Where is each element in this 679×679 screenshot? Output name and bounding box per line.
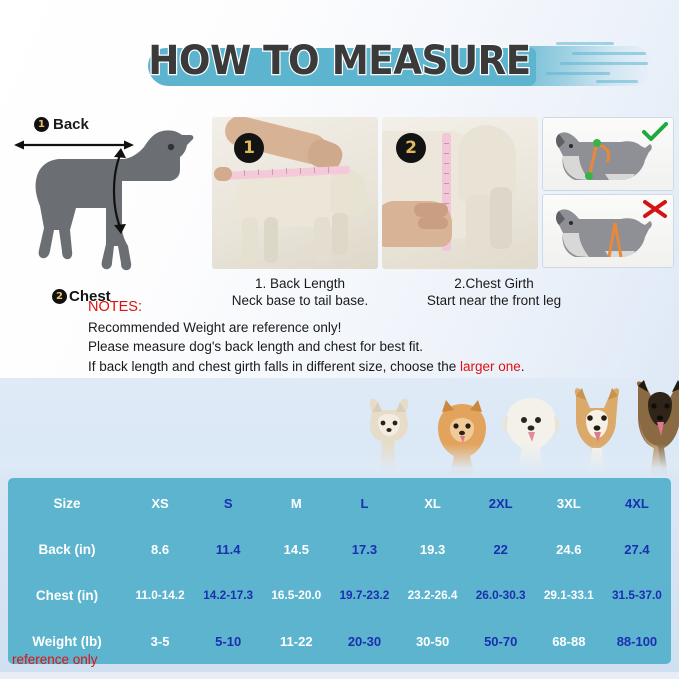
cell-weight-3xl: 68-88: [535, 634, 603, 649]
cell-chest-xs: 11.0-14.2: [126, 588, 194, 602]
cell-back-2xl: 22: [467, 542, 535, 557]
cell-back-xl: 19.3: [399, 542, 467, 557]
bottom-edge: [0, 672, 679, 679]
cell-size-3xl: 3XL: [535, 496, 603, 511]
cell-chest-s: 14.2-17.3: [194, 588, 262, 602]
size-table: Size XS S M L XL 2XL 3XL 4XL Back (in) 8…: [8, 478, 671, 664]
table-row-size: Size XS S M L XL 2XL 3XL 4XL: [8, 482, 671, 524]
cell-back-4xl: 27.4: [603, 542, 671, 557]
notes-line-3-post: .: [521, 359, 525, 374]
step-badge-2: 2: [396, 133, 426, 163]
row-label-size: Size: [8, 496, 126, 511]
caption-back-line1: 1. Back Length: [210, 275, 390, 292]
table-footnote: reference only: [12, 652, 98, 667]
cell-size-xs: XS: [126, 496, 194, 511]
notes-line-3: If back length and chest girth falls in …: [88, 357, 668, 377]
chest-measure-arrow-icon: [108, 148, 130, 234]
cell-chest-3xl: 29.1-33.1: [535, 588, 603, 602]
table-row-back: Back (in) 8.6 11.4 14.5 17.3 19.3 22 24.…: [8, 528, 671, 570]
cell-chest-xl: 23.2-26.4: [399, 588, 467, 602]
cell-back-l: 17.3: [330, 542, 398, 557]
size-chart-page: HOW TO MEASURE 1 Back: [0, 0, 679, 679]
badge-1-icon: 1: [34, 117, 49, 132]
badge-2-icon: 2: [52, 289, 67, 304]
cell-size-m: M: [262, 496, 330, 511]
title-banner: HOW TO MEASURE: [0, 26, 679, 98]
cell-chest-m: 16.5-20.0: [262, 588, 330, 602]
cell-back-m: 14.5: [262, 542, 330, 557]
page-title: HOW TO MEASURE: [24, 38, 655, 84]
cell-weight-l: 20-30: [330, 634, 398, 649]
cell-chest-l: 19.7-23.2: [330, 588, 398, 602]
notes-highlight: larger one: [460, 359, 521, 374]
check-icon: [642, 122, 668, 142]
cell-weight-xl: 30-50: [399, 634, 467, 649]
strip-fade-overlay: [0, 444, 679, 478]
cell-size-l: L: [330, 496, 398, 511]
caption-chest-line1: 2.Chest Girth: [404, 275, 584, 292]
cell-back-s: 11.4: [194, 542, 262, 557]
row-label-back: Back (in): [8, 542, 126, 557]
cell-weight-4xl: 88-100: [603, 634, 671, 649]
back-label: 1 Back: [34, 116, 89, 133]
cell-weight-m: 11-22: [262, 634, 330, 649]
photo-back-length: 1: [212, 117, 378, 269]
photo-chest-girth: 2: [382, 117, 538, 269]
row-label-chest: Chest (in): [8, 588, 126, 603]
cell-back-xs: 8.6: [126, 542, 194, 557]
row-label-weight: Weight (lb): [8, 634, 126, 649]
cross-icon: [642, 199, 668, 219]
cell-weight-s: 5-10: [194, 634, 262, 649]
cell-chest-4xl: 31.5-37.0: [603, 588, 671, 602]
photo-correct-example: [542, 117, 674, 191]
notes-line-3-pre: If back length and chest girth falls in …: [88, 359, 460, 374]
table-row-chest: Chest (in) 11.0-14.2 14.2-17.3 16.5-20.0…: [8, 574, 671, 616]
back-label-text: Back: [53, 116, 89, 133]
photo-incorrect-example: [542, 194, 674, 268]
dog-photo-strip: [0, 378, 679, 478]
notes-line-1: Recommended Weight are reference only!: [88, 318, 668, 338]
cell-chest-2xl: 26.0-30.3: [467, 588, 535, 602]
cell-size-xl: XL: [399, 496, 467, 511]
notes-block: NOTES: Recommended Weight are reference …: [88, 298, 668, 376]
cell-size-2xl: 2XL: [467, 496, 535, 511]
notes-title: NOTES:: [88, 298, 668, 318]
notes-line-2: Please measure dog's back length and che…: [88, 337, 668, 357]
dog-silhouette-diagram: 1 Back 2 Chest: [4, 112, 204, 272]
cell-size-s: S: [194, 496, 262, 511]
illustration-row: 1 Back 2 Chest: [0, 112, 679, 277]
table-row-weight: Weight (lb) 3-5 5-10 11-22 20-30 30-50 5…: [8, 620, 671, 662]
cell-back-3xl: 24.6: [535, 542, 603, 557]
step-badge-1: 1: [234, 133, 264, 163]
cell-weight-2xl: 50-70: [467, 634, 535, 649]
lower-panel: Size XS S M L XL 2XL 3XL 4XL Back (in) 8…: [0, 378, 679, 679]
cell-size-4xl: 4XL: [603, 496, 671, 511]
cell-weight-xs: 3-5: [126, 634, 194, 649]
